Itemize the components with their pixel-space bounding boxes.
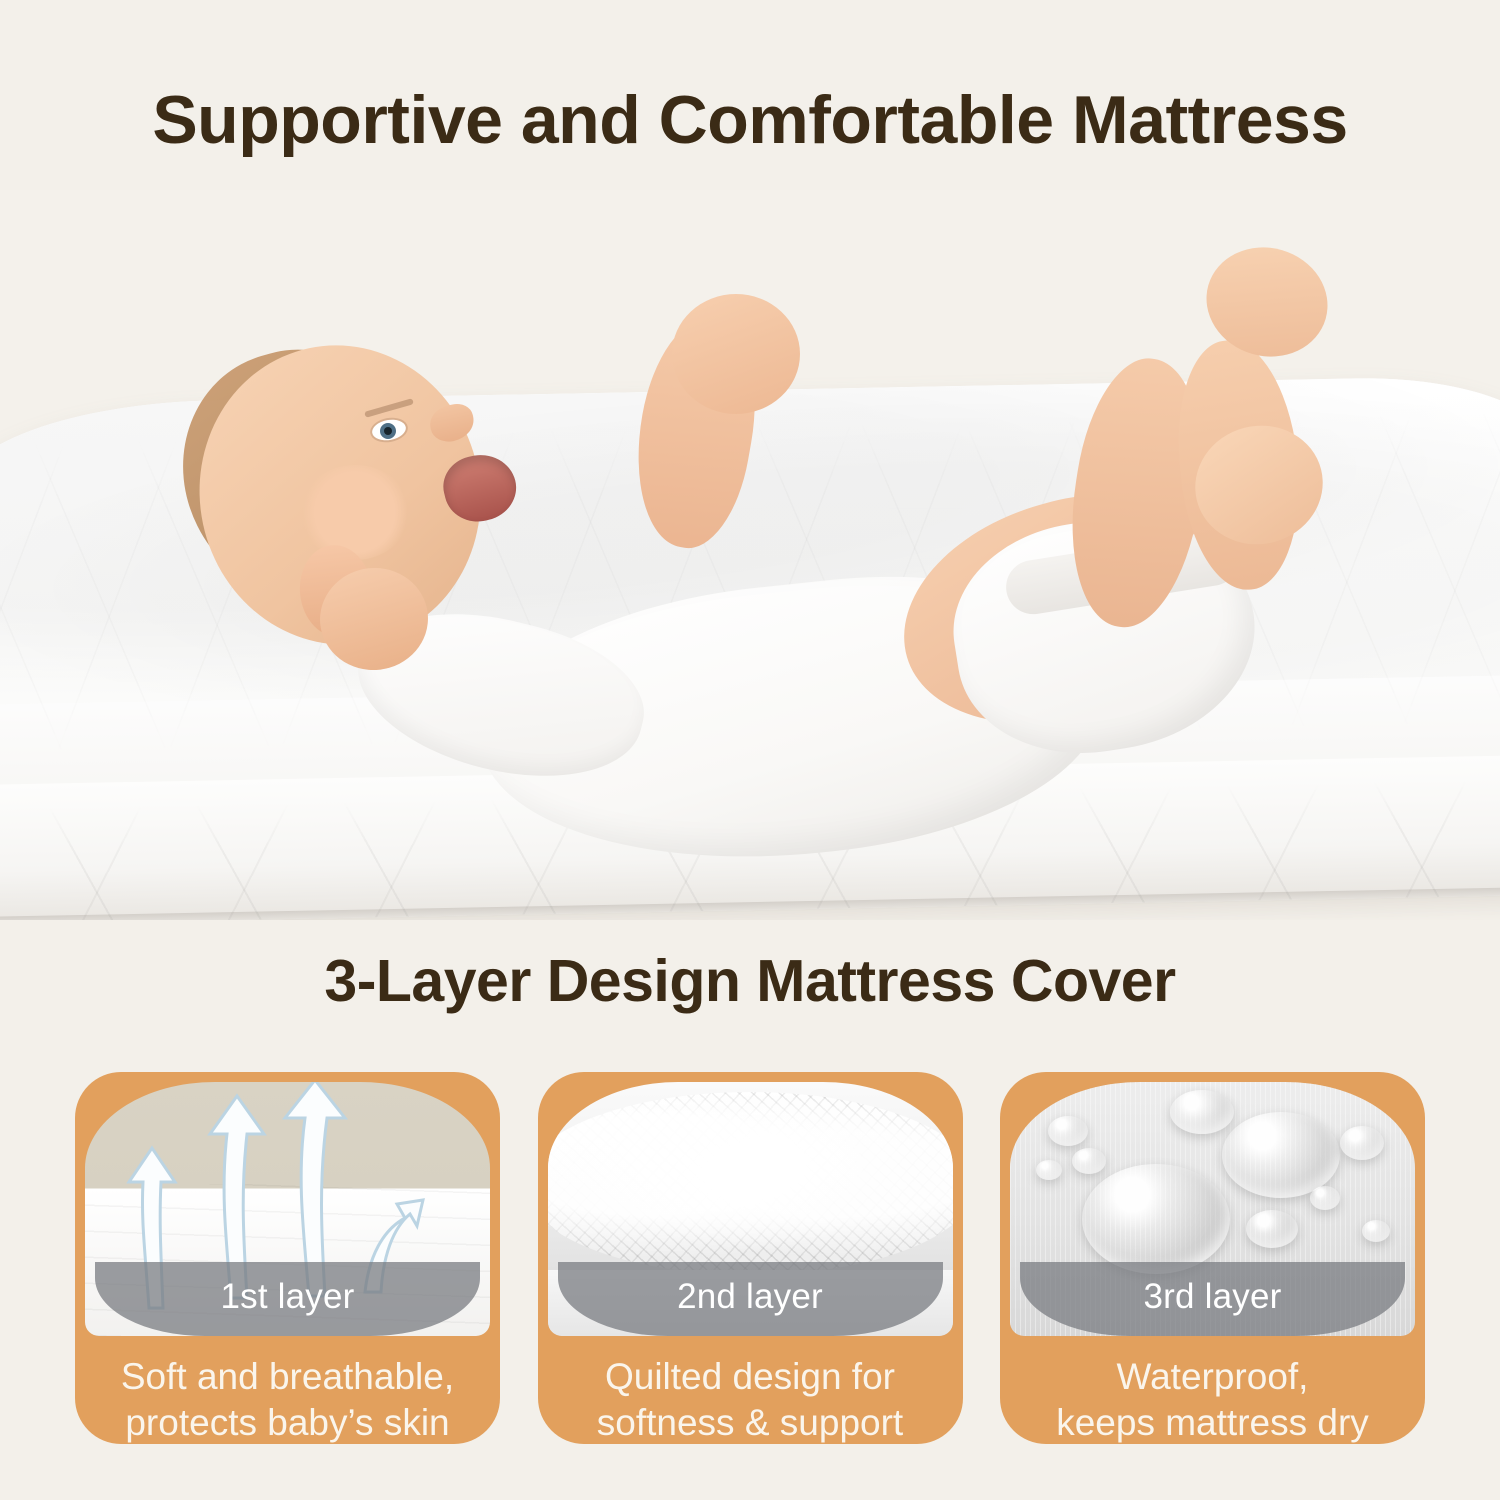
layer-caption-1: Soft and breathable, protects baby’s ski…: [75, 1354, 500, 1444]
layer-label-band-3: 3rd layer: [1020, 1262, 1405, 1336]
layer-label-3: 3rd layer: [1144, 1277, 1282, 1317]
water-droplet-icon: [1036, 1160, 1062, 1180]
fibre-loft: [548, 1092, 953, 1275]
layer-cards-row: 1st layer Soft and breathable, protects …: [75, 1072, 1425, 1444]
layer-caption-3: Waterproof, keeps mattress dry: [1000, 1354, 1425, 1444]
water-droplet-icon: [1082, 1164, 1230, 1274]
water-droplet-icon: [1048, 1116, 1088, 1146]
water-droplet-icon: [1072, 1148, 1106, 1174]
layer-label-1: 1st layer: [220, 1277, 354, 1317]
layer-card-2-media: 2nd layer: [548, 1082, 953, 1336]
layer-caption-2: Quilted design for softness & support: [538, 1354, 963, 1444]
layer-label-2: 2nd layer: [677, 1277, 823, 1317]
water-droplet-icon: [1246, 1210, 1298, 1248]
hero-product-image: [0, 190, 1500, 920]
water-droplet-icon: [1170, 1090, 1234, 1134]
layer-label-band-2: 2nd layer: [558, 1262, 943, 1336]
baby-pupil: [380, 423, 396, 439]
layer-card-1-media: 1st layer: [85, 1082, 490, 1336]
water-droplet-icon: [1310, 1186, 1340, 1210]
layer-card-3[interactable]: 3rd layer Waterproof, keeps mattress dry: [1000, 1072, 1425, 1444]
page-title-secondary: 3-Layer Design Mattress Cover: [0, 952, 1500, 1011]
baby-raised-hand: [672, 294, 800, 414]
layer-label-band-1: 1st layer: [95, 1262, 480, 1336]
page-title-primary: Supportive and Comfortable Mattress: [0, 86, 1500, 154]
layer-card-1[interactable]: 1st layer Soft and breathable, protects …: [75, 1072, 500, 1444]
water-droplet-icon: [1340, 1126, 1384, 1160]
layer-card-3-media: 3rd layer: [1010, 1082, 1415, 1336]
baby-illustration: [0, 190, 1500, 920]
baby-cheek: [300, 465, 410, 560]
layer-card-2[interactable]: 2nd layer Quilted design for softness & …: [538, 1072, 963, 1444]
water-droplet-icon: [1362, 1220, 1390, 1242]
